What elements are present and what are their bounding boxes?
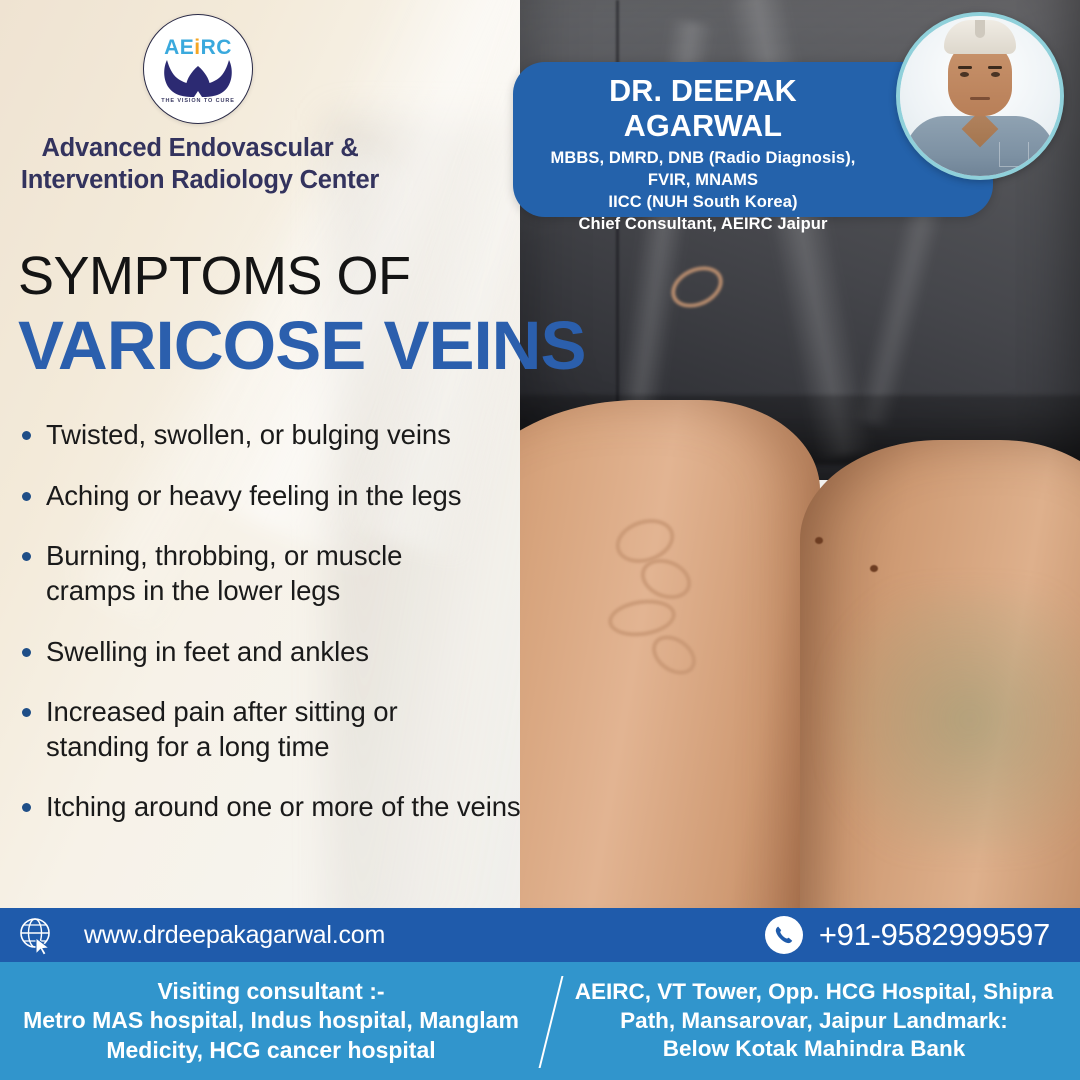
logo-letter-c: C [216,36,232,59]
symptom-text: Increased pain after sitting or standing… [46,695,476,764]
clinic-address-block: AEIRC, VT Tower, Opp. HCG Hospital, Ship… [542,978,1080,1064]
footer-bar: Visiting consultant :- Metro MAS hospita… [0,962,1080,1080]
contact-bar: www.drdeepakagarwal.com +91-9582999597 [0,908,1080,962]
symptom-text: Burning, throbbing, or muscle cramps in … [46,539,476,608]
visiting-consultant-line1: Metro MAS hospital, Indus hospital, Mang… [14,1006,528,1035]
doctor-credentials-2: FVIR, MNAMS [531,170,875,192]
skin-mole [870,565,878,572]
portrait-scrubs [905,116,1055,180]
portrait-brow [988,66,1002,69]
list-item: Itching around one or more of the veins [18,790,628,825]
symptom-text: Swelling in feet and ankles [46,635,369,670]
logo-mark: AEiRC [155,34,241,96]
visiting-consultant-line2: Medicity, HCG cancer hospital [14,1036,528,1065]
clinic-name-line2: Intervention Radiology Center [0,165,400,197]
logo-letter-r: R [201,36,217,59]
list-item: Swelling in feet and ankles [18,635,628,670]
address-line3: Below Kotak Mahindra Bank [566,1035,1062,1064]
doctor-info-card: DR. DEEPAK AGARWAL MBBS, DMRD, DNB (Radi… [513,62,993,217]
bullet-icon [22,708,31,717]
website-url[interactable]: www.drdeepakagarwal.com [84,921,385,950]
doctor-name: DR. DEEPAK AGARWAL [531,74,875,144]
bullet-icon [22,648,31,657]
portrait-brow [958,66,972,69]
symptom-text: Itching around one or more of the veins [46,790,521,825]
clinic-name: Advanced Endovascular & Intervention Rad… [0,133,400,197]
bullet-icon [22,431,31,440]
symptom-list: Twisted, swollen, or bulging veins Achin… [18,418,628,851]
logo-letter-a: A [164,36,180,59]
logo-letter-e: E [180,36,195,59]
phone-group[interactable]: +91-9582999597 [765,916,1050,954]
clinic-name-line1: Advanced Endovascular & [0,133,400,165]
portrait-eye [960,72,969,77]
background-greenery [830,590,1080,850]
list-item: Twisted, swollen, or bulging veins [18,418,628,453]
logo-wordmark: AEiRC [155,36,241,60]
portrait-mouth [970,97,990,100]
headline-line2: VARICOSE VEINS [18,307,658,384]
clinic-logo: AEiRC THE VISION TO CURE [143,14,253,124]
list-item: Increased pain after sitting or standing… [18,695,628,764]
portrait-v-neck [962,111,999,148]
portrait-eye [991,72,1000,77]
address-line2: Path, Mansarovar, Jaipur Landmark: [566,1007,1062,1036]
doctor-text-block: DR. DEEPAK AGARWAL MBBS, DMRD, DNB (Radi… [531,74,875,236]
page-title: SYMPTOMS OF VARICOSE VEINS [18,248,658,384]
visiting-consultant-block: Visiting consultant :- Metro MAS hospita… [0,977,542,1065]
list-item: Burning, throbbing, or muscle cramps in … [18,539,628,608]
poster-canvas: AEiRC THE VISION TO CURE Advanced Endova… [0,0,1080,1080]
bullet-icon [22,492,31,501]
portrait-surgical-cap [944,20,1016,54]
phone-number[interactable]: +91-9582999597 [819,917,1050,953]
globe-icon [16,914,58,956]
list-item: Aching or heavy feeling in the legs [18,479,628,514]
bullet-icon [22,552,31,561]
skin-mole [815,537,823,544]
doctor-credentials-1: MBBS, DMRD, DNB (Radio Diagnosis), [531,148,875,170]
doctor-credentials-4: Chief Consultant, AEIRC Jaipur [531,214,875,236]
doctor-portrait [896,12,1064,180]
headline-line1: SYMPTOMS OF [18,248,658,305]
symptom-text: Twisted, swollen, or bulging veins [46,418,451,453]
address-line1: AEIRC, VT Tower, Opp. HCG Hospital, Ship… [566,978,1062,1007]
symptom-text: Aching or heavy feeling in the legs [46,479,461,514]
cupped-hands-icon [161,58,235,103]
phone-icon [765,916,803,954]
visiting-consultant-title: Visiting consultant :- [14,977,528,1006]
bullet-icon [22,803,31,812]
portrait-pocket [999,142,1029,167]
doctor-credentials-3: IICC (NUH South Korea) [531,192,875,214]
